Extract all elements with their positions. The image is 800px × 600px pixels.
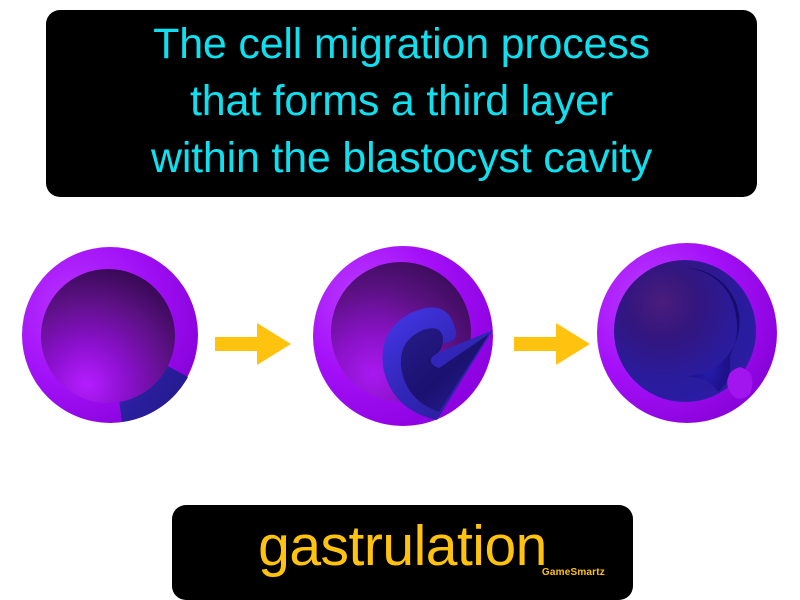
definition-line-1: The cell migration process: [153, 16, 650, 73]
definition-panel: The cell migration process that forms a …: [46, 10, 757, 197]
arrow-shape: [514, 323, 590, 365]
stage-2-to-3-arrow: [512, 320, 592, 368]
stage-1-to-2-arrow: [213, 320, 293, 368]
arrow-shape: [215, 323, 291, 365]
stage-2-invagination-diagram: [305, 232, 505, 454]
term-panel: gastrulation GameSmartz: [172, 505, 633, 600]
diagram-strip: [0, 232, 800, 454]
flashcard: The cell migration process that forms a …: [0, 0, 800, 600]
watermark-label: GameSmartz: [542, 567, 605, 578]
arrow-right-icon: [512, 320, 592, 368]
stage-1-cavity: [41, 269, 175, 403]
stage-3-three-layer-diagram: [590, 232, 790, 454]
stage-1-svg: [10, 232, 210, 454]
stage-3-svg: [590, 232, 790, 454]
stage-1-blastocyst-diagram: [10, 232, 210, 454]
definition-line-2: that forms a third layer: [190, 73, 613, 130]
stage-2-svg: [305, 232, 505, 454]
definition-line-3: within the blastocyst cavity: [151, 130, 652, 187]
arrow-right-icon: [213, 320, 293, 368]
